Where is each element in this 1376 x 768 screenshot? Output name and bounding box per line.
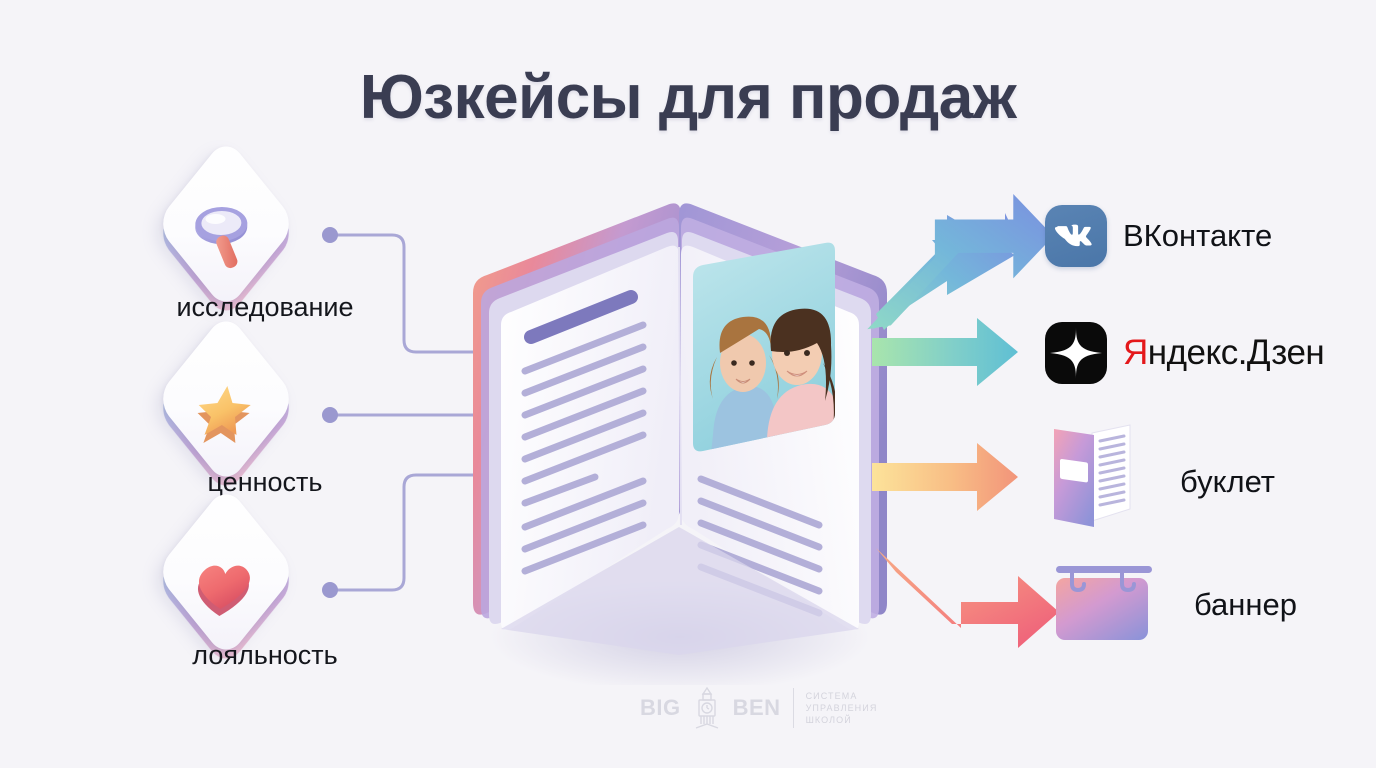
page-title: Юзкейсы для продаж: [0, 62, 1376, 133]
footer-logo: BIG BEN система управления школой: [640, 686, 877, 730]
tile-face: [155, 136, 297, 311]
connector-dot: [322, 407, 338, 423]
feature-label: лояльность: [110, 640, 420, 671]
zen-label-rest: ндекс.Дзен: [1148, 333, 1324, 372]
big-ben-clock-tower-icon: [693, 686, 721, 730]
booklet-photo: [693, 243, 841, 455]
brand-ben: BEN: [733, 695, 781, 721]
booklet-illustration: [455, 185, 905, 685]
output-booklet[interactable]: буклет: [1048, 423, 1275, 540]
footer-tagline: система управления школой: [806, 690, 878, 726]
footer-tagline-line3: школой: [806, 714, 878, 726]
zen-label-ya: Я: [1123, 333, 1148, 372]
output-banner[interactable]: баннер: [1048, 558, 1297, 651]
brand-big: BIG: [640, 695, 681, 721]
banner-icon: [1048, 558, 1160, 651]
output-label: ВКонтакте: [1123, 218, 1272, 254]
output-label: баннер: [1194, 587, 1297, 623]
tile-face: [155, 484, 297, 659]
connector-dot: [322, 582, 338, 598]
infographic-canvas: Юзкейсы для продаж: [0, 0, 1376, 768]
output-vkontakte[interactable]: ВКонтакте: [1045, 205, 1272, 267]
booklet-icon-cover-label: [1060, 459, 1088, 483]
feature-label: ценность: [110, 467, 420, 498]
footer-tagline-line2: управления: [806, 702, 878, 714]
vk-icon: [1045, 205, 1107, 267]
tile-face: [155, 311, 297, 486]
booklet-icon: [1048, 423, 1136, 540]
connector-dot: [322, 227, 338, 243]
footer-tagline-line1: система: [806, 690, 878, 702]
yandex-zen-icon: [1045, 322, 1107, 384]
output-label: Яндекс.Дзен: [1123, 333, 1324, 373]
output-yandex-zen[interactable]: Яндекс.Дзен: [1045, 322, 1324, 384]
feature-label: исследование: [110, 292, 420, 323]
footer-divider: [793, 688, 794, 728]
output-label: буклет: [1180, 464, 1275, 500]
